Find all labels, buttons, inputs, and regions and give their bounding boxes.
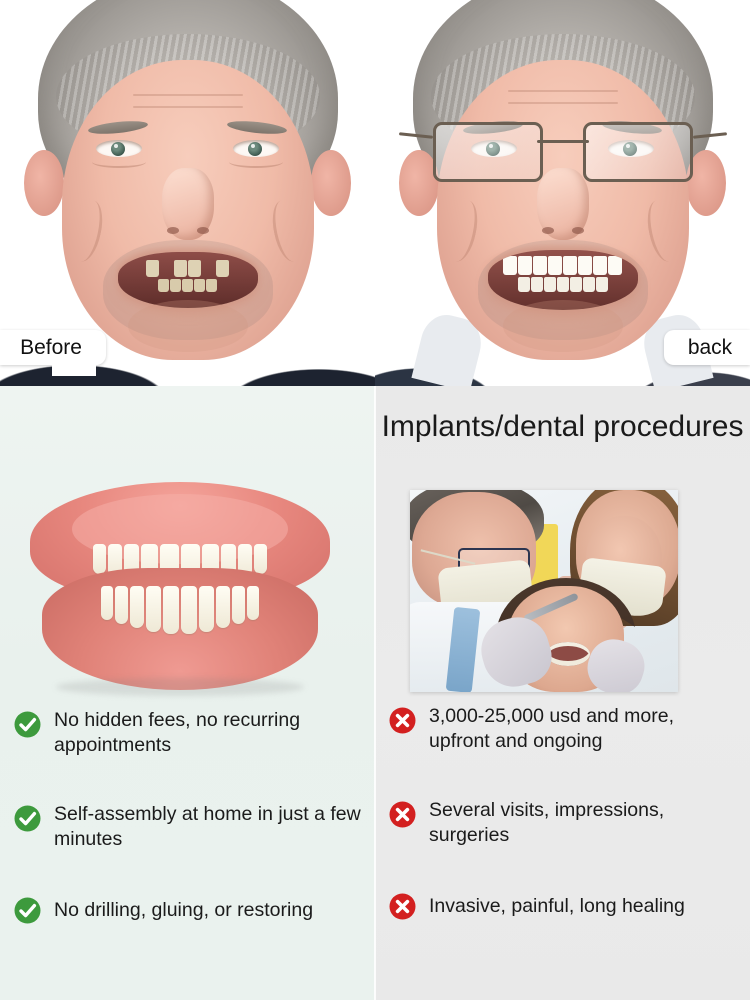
dental-procedure-photo <box>410 490 678 692</box>
before-eye-right <box>233 140 279 157</box>
list-item-label: Several visits, impressions, surgeries <box>429 798 736 848</box>
red-x-icon <box>389 893 416 920</box>
denture-watermark-icon <box>52 362 96 376</box>
back-badge-label: back <box>688 336 732 360</box>
green-check-icon <box>14 805 41 832</box>
red-x-icon <box>389 801 416 828</box>
denture-panel: No hidden fees, no recurring appointment… <box>0 386 375 1000</box>
list-item-label: Invasive, painful, long healing <box>429 892 685 919</box>
back-badge: back <box>664 330 750 365</box>
before-badge-label: Before <box>20 336 82 360</box>
red-x-icon <box>389 707 416 734</box>
denture-benefits-list: No hidden fees, no recurring appointment… <box>0 708 375 968</box>
list-item: No hidden fees, no recurring appointment… <box>0 708 375 780</box>
green-check-icon <box>14 897 41 924</box>
before-eye-left <box>96 140 142 157</box>
after-photo: back <box>375 0 750 386</box>
after-face-illustration <box>375 0 750 386</box>
list-item-label: No drilling, gluing, or restoring <box>54 896 313 923</box>
list-item: Self-assembly at home in just a few minu… <box>0 802 375 874</box>
denture-product-image <box>30 482 330 690</box>
before-photo: Before <box>0 0 375 386</box>
green-check-icon <box>14 711 41 738</box>
implants-drawbacks-list: 3,000-25,000 usd and more, upfront and o… <box>375 704 750 964</box>
list-item-label: 3,000-25,000 usd and more, upfront and o… <box>429 704 736 754</box>
before-ear-left <box>24 150 64 216</box>
implants-panel: Implants/dental procedures <box>375 386 750 1000</box>
before-ear-right <box>311 150 351 216</box>
list-item: Invasive, painful, long healing <box>375 892 750 942</box>
list-item: Several visits, impressions, surgeries <box>375 798 750 870</box>
list-item-label: No hidden fees, no recurring appointment… <box>54 708 361 758</box>
comparison-infographic: Before <box>0 0 750 1000</box>
before-nose <box>162 168 214 240</box>
before-face-illustration <box>0 0 375 386</box>
before-badge: Before <box>0 330 106 365</box>
page-title: Implants/dental procedures <box>375 408 750 446</box>
list-item: 3,000-25,000 usd and more, upfront and o… <box>375 704 750 776</box>
panel-divider <box>374 386 376 1000</box>
after-nose <box>537 168 589 240</box>
list-item: No drilling, gluing, or restoring <box>0 896 375 946</box>
list-item-label: Self-assembly at home in just a few minu… <box>54 802 361 852</box>
before-after-photo-strip: Before <box>0 0 750 386</box>
